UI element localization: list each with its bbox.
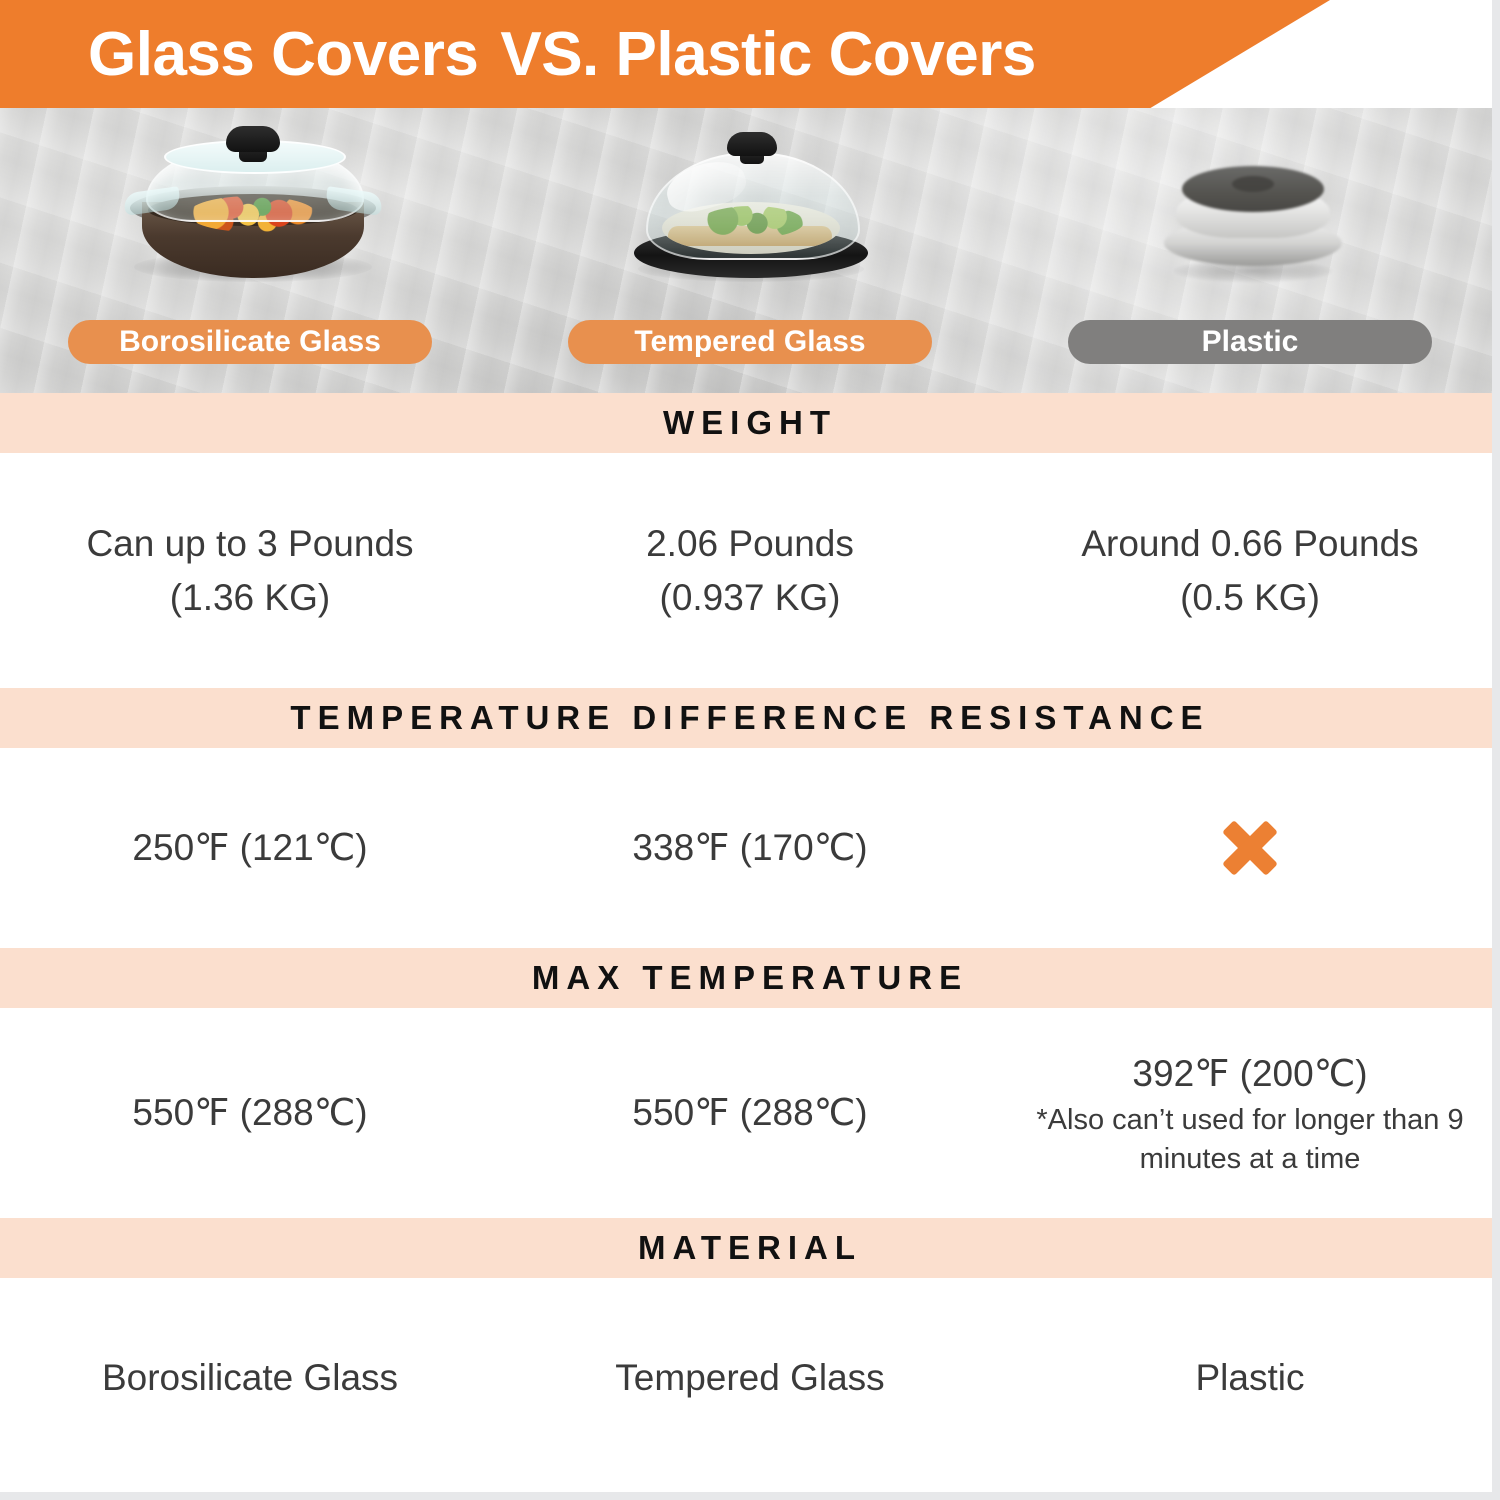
cell-material-plastic: Plastic [1000, 1278, 1500, 1478]
cross-x-icon [1220, 818, 1280, 878]
value-line1: 250℉ (121℃) [132, 821, 367, 875]
plastic-cover-icon [1090, 124, 1410, 314]
value-line1: Borosilicate Glass [102, 1351, 398, 1405]
section-body-temperature-difference-resistance: 250℉ (121℃) 338℉ (170℃) [0, 748, 1500, 948]
section-title-max-temperature: MAX TEMPERATURE [532, 959, 968, 997]
cell-maxtemp-borosilicate: 550℉ (288℃) [0, 1008, 500, 1218]
cell-tdr-plastic [1000, 748, 1500, 948]
value-line2: (0.5 KG) [1180, 571, 1320, 625]
value-line1: 392℉ (200℃) [1132, 1047, 1367, 1101]
section-header-temperature-difference-resistance: TEMPERATURE DIFFERENCE RESISTANCE [0, 688, 1500, 748]
product-column-plastic: Plastic [1000, 108, 1500, 393]
section-title-temperature-difference-resistance: TEMPERATURE DIFFERENCE RESISTANCE [290, 699, 1209, 737]
value-footnote: *Also can’t used for longer than 9 minut… [1026, 1101, 1474, 1179]
section-header-max-temperature: MAX TEMPERATURE [0, 948, 1500, 1008]
cell-tdr-tempered: 338℉ (170℃) [500, 748, 1000, 948]
cell-maxtemp-plastic: 392℉ (200℃) *Also can’t used for longer … [1000, 1008, 1500, 1218]
page-title-right: VS. Plastic Covers [500, 20, 1036, 89]
cell-material-tempered: Tempered Glass [500, 1278, 1000, 1478]
comparison-infographic: Glass CoversVS. Plastic Covers Borosilic… [0, 0, 1500, 1500]
value-line2: (0.937 KG) [660, 571, 841, 625]
value-line1: 2.06 Pounds [646, 517, 854, 571]
section-title-material: MATERIAL [638, 1229, 862, 1267]
section-body-material: Borosilicate Glass Tempered Glass Plasti… [0, 1278, 1500, 1478]
value-line1: 338℉ (170℃) [632, 821, 867, 875]
section-header-material: MATERIAL [0, 1218, 1500, 1278]
section-body-weight: Can up to 3 Pounds (1.36 KG) 2.06 Pounds… [0, 453, 1500, 688]
page-title: Glass CoversVS. Plastic Covers [88, 24, 1036, 86]
section-header-weight: WEIGHT [0, 393, 1500, 453]
borosilicate-glass-cover-icon [90, 124, 410, 314]
section-title-weight: WEIGHT [663, 404, 837, 442]
value-line2: (1.36 KG) [170, 571, 330, 625]
value-line1: 550℉ (288℃) [632, 1086, 867, 1140]
header: Glass CoversVS. Plastic Covers [0, 0, 1500, 110]
value-line1: 550℉ (288℃) [132, 1086, 367, 1140]
value-line1: Around 0.66 Pounds [1081, 517, 1418, 571]
product-label-borosilicate: Borosilicate Glass [68, 320, 432, 364]
tempered-glass-cover-icon [590, 124, 910, 314]
product-column-borosilicate: Borosilicate Glass [0, 108, 500, 393]
product-photo-strip: Borosilicate Glass Tempered Glass [0, 108, 1500, 393]
product-label-plastic: Plastic [1068, 320, 1432, 364]
product-column-tempered: Tempered Glass [500, 108, 1000, 393]
section-body-max-temperature: 550℉ (288℃) 550℉ (288℃) 392℉ (200℃) *Als… [0, 1008, 1500, 1218]
cell-weight-borosilicate: Can up to 3 Pounds (1.36 KG) [0, 453, 500, 688]
page-title-left: Glass Covers [88, 20, 478, 89]
cell-maxtemp-tempered: 550℉ (288℃) [500, 1008, 1000, 1218]
cell-material-borosilicate: Borosilicate Glass [0, 1278, 500, 1478]
cell-weight-plastic: Around 0.66 Pounds (0.5 KG) [1000, 453, 1500, 688]
cell-tdr-borosilicate: 250℉ (121℃) [0, 748, 500, 948]
value-line1: Plastic [1196, 1351, 1305, 1405]
product-label-tempered: Tempered Glass [568, 320, 932, 364]
value-line1: Tempered Glass [615, 1351, 884, 1405]
cell-weight-tempered: 2.06 Pounds (0.937 KG) [500, 453, 1000, 688]
value-line1: Can up to 3 Pounds [86, 517, 413, 571]
